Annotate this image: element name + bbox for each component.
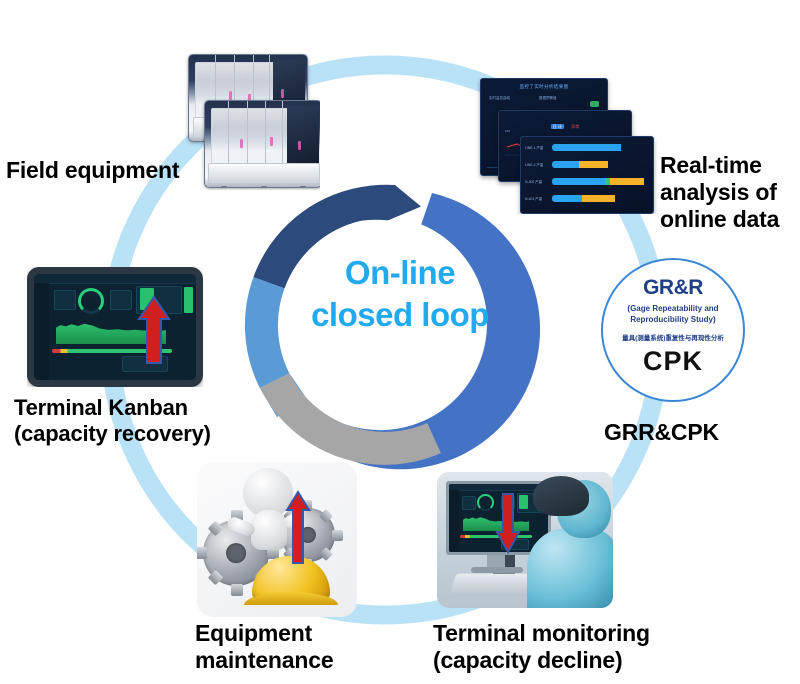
dashboard-title: 监控了实时分析结果图 [481, 84, 607, 90]
dashboard-screen-front: LINE-1 产量 LINE-2 产量 N-302 产量 N-401 产量 [520, 136, 654, 214]
diagram-canvas: On-line closed loop [0, 0, 800, 684]
donut-chevron-left [260, 373, 307, 417]
label-terminal-kanban: Terminal Kanban (capacity recovery) [14, 395, 211, 447]
terminal-kanban-image [27, 267, 203, 387]
dashboard-bar-2 [552, 178, 646, 185]
cpk-acronym: CPK [603, 346, 743, 377]
equipment-maintenance-image [197, 462, 357, 617]
red-down-arrow-monitoring [495, 492, 521, 554]
grr-subtitle-line1: (Gage Repeatability and [609, 304, 737, 314]
center-label-line1: On-line [300, 252, 500, 294]
dashboard-legend-right: 数据预警值 [539, 96, 557, 101]
grr-title: GR&R [603, 276, 743, 300]
label-grr-cpk: GRR&CPK [604, 419, 719, 446]
dashboard-bar-1 [552, 161, 632, 168]
label-realtime-analysis: Real-time analysis of online data [660, 152, 800, 233]
donut-chevron-top [361, 185, 421, 221]
field-equipment-image [182, 52, 320, 190]
dashboard-bar-3 [552, 195, 640, 202]
bar-label-0: LINE-1 产量 [525, 145, 543, 150]
label-terminal-monitoring: Terminal monitoring (capacity decline) [433, 620, 650, 674]
terminal-monitoring-image [437, 472, 613, 608]
equipment-photo-front [204, 100, 320, 188]
figure-torso [251, 510, 287, 550]
tablet-device [27, 267, 203, 387]
bar-label-1: LINE-2 产量 [525, 162, 543, 167]
label-field-equipment: Field equipment [6, 157, 179, 184]
kanban-screen [34, 274, 196, 380]
label-equipment-maintenance: Equipment maintenance [195, 620, 333, 674]
grr-chinese-text: 量具(测量系统)重复性与再现性分析 [607, 332, 739, 342]
donut-segment-left-lightblue [245, 277, 289, 388]
dashboard-bar-0 [552, 144, 632, 151]
bar-label-2: N-302 产量 [525, 179, 542, 184]
red-up-arrow-maintenance [285, 490, 311, 565]
bar-label-3: N-401 产量 [525, 196, 542, 201]
grr-cpk-circle: GR&R (Gage Repeatability and Reproducibi… [601, 258, 745, 402]
operator-figure [531, 480, 613, 608]
dashboard-legend-left: 实时监控曲线 [489, 96, 510, 101]
center-label: On-line closed loop [300, 252, 500, 336]
donut-segment-bottom-gray [260, 373, 441, 465]
center-label-line2: closed loop [300, 294, 500, 336]
grr-subtitle-line2: Reproducibility Study) [609, 315, 737, 325]
realtime-dashboard-image: 监控了实时分析结果图 实时监控曲线 数据预警值 日 计 异常 100 LINE-… [476, 78, 658, 214]
red-up-arrow-kanban [137, 295, 171, 365]
